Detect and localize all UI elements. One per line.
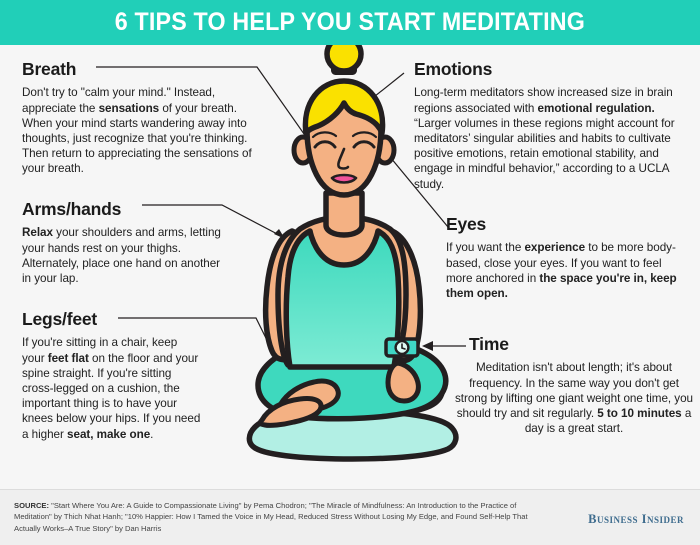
infographic-root: 6 TIPS TO HELP YOU START MEDITATING <box>0 0 700 545</box>
leader-line-emotions <box>335 73 404 128</box>
callout-body-emotions: Long-term meditators show increased size… <box>414 85 682 191</box>
leader-arrowheads <box>274 127 433 415</box>
watch-band <box>386 339 418 356</box>
arm-left <box>385 231 421 361</box>
eyebrow-right <box>313 132 336 137</box>
arrowhead-arms <box>274 229 285 239</box>
hand-left <box>388 363 418 401</box>
callout-time: Time Meditation isn't about length; it's… <box>455 335 693 436</box>
hair-tie <box>333 62 355 73</box>
arrowhead-emotions <box>333 127 343 136</box>
callout-emotions: Emotions Long-term meditators show incre… <box>414 60 682 192</box>
eye-left-closed <box>354 142 374 147</box>
wristwatch <box>386 339 418 356</box>
callout-breath: Breath Don't try to "calm your mind." In… <box>22 60 254 177</box>
footer-bar: SOURCE: "Start Where You Are: A Guide to… <box>0 489 700 545</box>
eye-right-closed <box>315 142 335 147</box>
hair-bun <box>327 45 361 71</box>
callout-body-eyes: If you want the experience to be more bo… <box>446 240 681 301</box>
arrowhead-time <box>422 341 433 351</box>
callout-eyes: Eyes If you want the experience to be mo… <box>446 215 681 301</box>
nose <box>338 149 348 169</box>
eyebrow-left <box>353 132 376 137</box>
foot-crossed <box>279 381 338 413</box>
callout-legs-feet: Legs/feet If you're sitting in a chair, … <box>22 310 202 442</box>
collarbone <box>336 221 352 235</box>
callout-body-arms-hands: Relax your shoulders and arms, letting y… <box>22 225 222 286</box>
ear-right <box>294 137 312 163</box>
face <box>307 85 381 195</box>
foot-lower <box>260 398 321 425</box>
leg-far <box>263 358 443 417</box>
source-credit: SOURCE: "Start Where You Are: A Guide to… <box>14 500 534 534</box>
header-bar: 6 TIPS TO HELP YOU START MEDITATING <box>0 0 700 45</box>
callout-body-legs-feet: If you're sitting in a chair, keep your … <box>22 335 202 441</box>
torso-skin <box>278 217 406 365</box>
source-body: "Start Where You Are: A Guide to Compass… <box>14 501 528 533</box>
neck <box>326 193 362 235</box>
watch-hands-icon <box>402 344 405 349</box>
callout-heading-time: Time <box>469 335 693 353</box>
tank-top <box>286 231 399 367</box>
cushion <box>249 411 456 459</box>
callout-arms-hands: Arms/hands Relax your shoulders and arms… <box>22 200 222 286</box>
arrowhead-eyes <box>379 144 389 153</box>
callout-body-breath: Don't try to "calm your mind." Instead, … <box>22 85 254 176</box>
arrowhead-breath <box>306 140 316 151</box>
ear-left <box>376 137 394 163</box>
watch-face <box>396 341 409 354</box>
arrowhead-legs <box>295 405 304 415</box>
hair <box>305 81 382 133</box>
lips <box>332 175 356 183</box>
source-label: SOURCE: <box>14 501 49 510</box>
callout-heading-breath: Breath <box>22 60 254 78</box>
page-title: 6 TIPS TO HELP YOU START MEDITATING <box>115 8 585 37</box>
arm-right <box>266 231 302 360</box>
leg-near <box>258 339 446 418</box>
callout-heading-emotions: Emotions <box>414 60 682 78</box>
callout-heading-legs-feet: Legs/feet <box>22 310 202 328</box>
business-insider-logo: Business Insider <box>588 512 684 527</box>
callout-heading-arms-hands: Arms/hands <box>22 200 222 218</box>
callout-body-time: Meditation isn't about length; it's abou… <box>455 360 693 436</box>
callout-heading-eyes: Eyes <box>446 215 681 233</box>
